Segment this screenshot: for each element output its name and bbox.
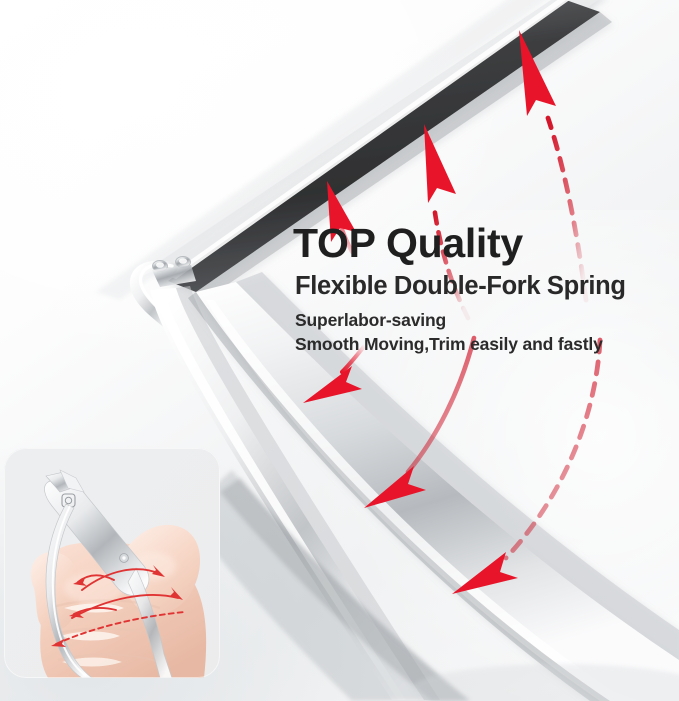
headline: TOP Quality bbox=[293, 222, 663, 265]
floor-reflection bbox=[410, 664, 679, 701]
inset-usage-photo bbox=[4, 448, 220, 678]
bullet-item-1: Superlabor-saving bbox=[295, 309, 663, 333]
product-image-canvas: TOP Quality Flexible Double-Fork Spring … bbox=[0, 0, 679, 701]
bullet-list: Superlabor-saving Smooth Moving,Trim eas… bbox=[295, 309, 663, 356]
marketing-copy: TOP Quality Flexible Double-Fork Spring … bbox=[293, 222, 663, 356]
subheadline: Flexible Double-Fork Spring bbox=[295, 272, 663, 301]
bullet-item-2: Smooth Moving,Trim easily and fastly bbox=[295, 333, 663, 357]
